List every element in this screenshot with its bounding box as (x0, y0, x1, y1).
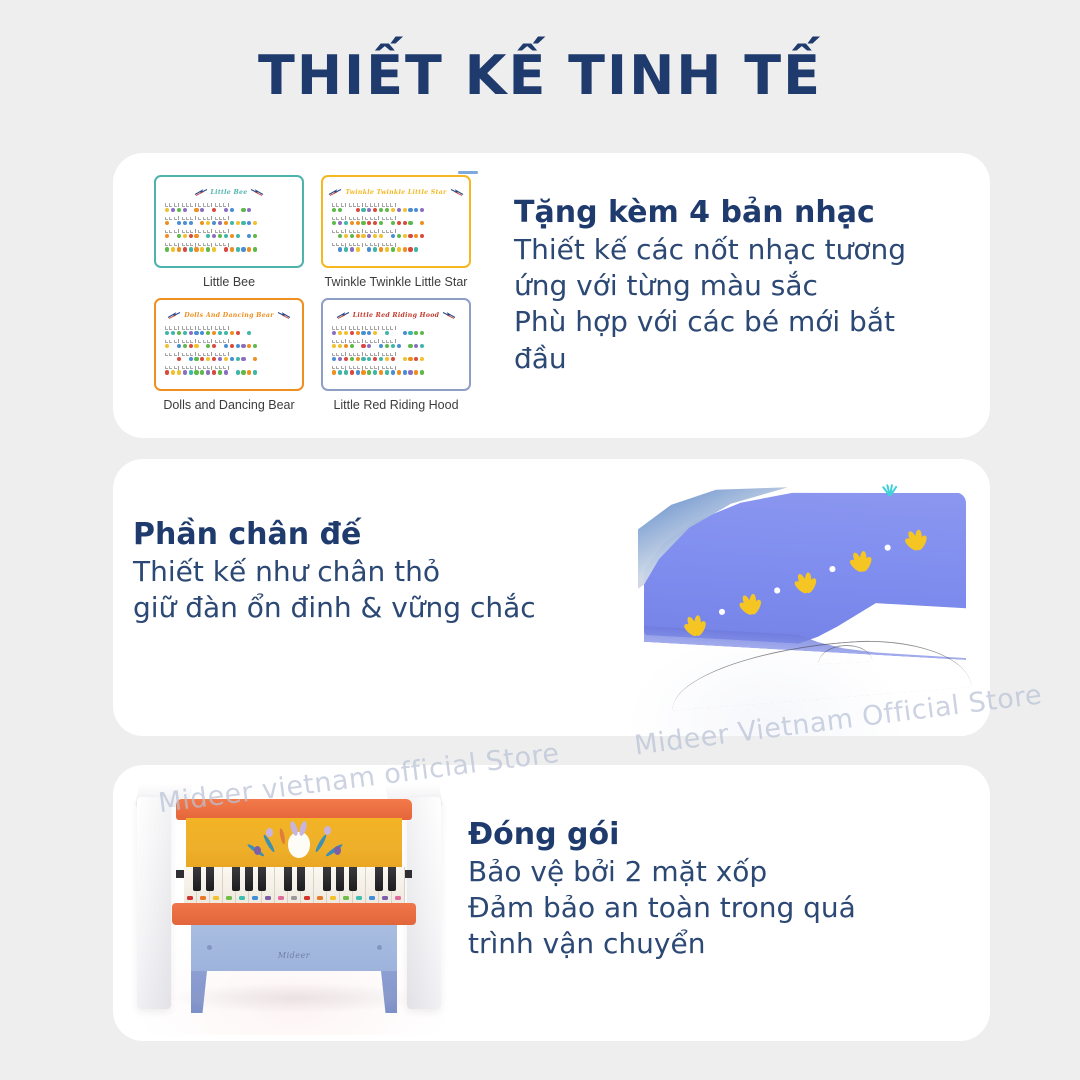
note-tick-row (332, 339, 463, 344)
note-gap (403, 344, 407, 348)
note-tick-row (332, 203, 463, 208)
note-dot (230, 331, 234, 335)
note-tick (336, 203, 339, 207)
note-tick (386, 230, 389, 234)
note-gap (385, 221, 389, 225)
note-tick (386, 353, 389, 357)
note-tick (219, 217, 222, 221)
note-dot (356, 370, 360, 374)
note-tick (219, 366, 222, 370)
note-dot (361, 221, 365, 225)
note-dot (361, 344, 365, 348)
note-tick (353, 340, 356, 344)
note-tick (186, 340, 189, 344)
note-dot (218, 331, 222, 335)
key-color-dot (369, 896, 375, 900)
note-tick (215, 366, 218, 370)
note-tick-row (165, 365, 296, 370)
note-dot (338, 370, 342, 374)
note-tick (169, 326, 172, 330)
song-sheet-item[interactable]: Twinkle Twinkle Little Star Twinkle Twin… (321, 175, 471, 289)
note-tick (374, 340, 377, 344)
note-dot (253, 247, 257, 251)
note-dot (420, 208, 424, 212)
note-dot (332, 370, 336, 374)
note-tick (365, 366, 368, 370)
note-tick (341, 203, 344, 207)
song-sheet-label: Little Red Riding Hood (321, 398, 471, 412)
note-dot-row (332, 331, 463, 336)
note-tick-row (165, 242, 296, 247)
note-tick (219, 230, 222, 234)
note-dot (408, 370, 412, 374)
note-dot (403, 331, 407, 335)
piano-black-key[interactable] (193, 867, 201, 891)
note-bar (362, 229, 364, 233)
note-bar (178, 352, 180, 356)
note-bar (345, 366, 347, 370)
note-dot (338, 208, 342, 212)
note-dot-row (165, 208, 296, 213)
note-tick (174, 340, 177, 344)
note-dot (183, 208, 187, 212)
note-dot (403, 221, 407, 225)
flower-icon (266, 828, 273, 837)
note-tick (219, 326, 222, 330)
note-dot (414, 208, 418, 212)
note-dot-row (332, 234, 463, 239)
note-gap (385, 234, 389, 238)
sheet-title: Little Red Riding Hood (353, 312, 440, 319)
note-tick (353, 366, 356, 370)
note-dot (397, 370, 401, 374)
piano-black-key[interactable] (284, 867, 292, 891)
note-dot (236, 357, 240, 361)
note-dot (212, 370, 216, 374)
note-tick (174, 353, 177, 357)
note-dot (194, 208, 198, 212)
note-dot (379, 344, 383, 348)
teal-burst-icon (878, 482, 902, 496)
note-dot (241, 370, 245, 374)
note-dot-row (332, 344, 463, 349)
note-dot (253, 344, 257, 348)
note-gap (247, 357, 251, 361)
note-dot (200, 331, 204, 335)
note-bar (378, 229, 380, 233)
note-dot (165, 331, 169, 335)
note-dot (253, 234, 257, 238)
note-dot (420, 234, 424, 238)
note-tick (374, 326, 377, 330)
note-tick (223, 203, 226, 207)
note-tick (382, 203, 385, 207)
flower-icon (334, 846, 341, 855)
song-sheet-item[interactable]: Little Bee Little Bee (154, 175, 304, 289)
note-tick (365, 217, 368, 221)
note-tick (198, 326, 201, 330)
rabbit-floral-decal (242, 822, 352, 868)
note-tick (370, 340, 373, 344)
note-bar (395, 366, 397, 370)
note-dot (200, 221, 204, 225)
note-dot (344, 234, 348, 238)
note-dot (391, 344, 395, 348)
note-dot (408, 221, 412, 225)
note-tick (365, 353, 368, 357)
song-sheet-item[interactable]: Little Red Riding Hood Little Red Riding… (321, 298, 471, 412)
note-dot (218, 234, 222, 238)
note-bar (211, 203, 213, 207)
note-tick (203, 366, 206, 370)
note-bar (378, 216, 380, 220)
note-tick (182, 340, 185, 344)
note-bar (178, 326, 180, 330)
note-dot (171, 208, 175, 212)
piano-black-key[interactable] (323, 867, 331, 891)
note-tick (174, 243, 177, 247)
note-dot (165, 234, 169, 238)
note-dot (206, 344, 210, 348)
note-tick (336, 366, 339, 370)
note-tick (357, 243, 360, 247)
sheet-header: Dolls And Dancing Bear (156, 311, 302, 319)
note-dot (391, 221, 395, 225)
note-gap (218, 344, 222, 348)
piano-backboard (186, 818, 402, 870)
note-dot (224, 370, 228, 374)
card-text-block: Đóng gói Bảo vệ bởi 2 mặt xốp Đảm bảo an… (468, 817, 938, 963)
note-dot (247, 370, 251, 374)
card-text-block: Phần chân đế Thiết kế như chân thỏ giữ đ… (133, 517, 633, 626)
note-bar (395, 216, 397, 220)
note-dot (177, 370, 181, 374)
note-dot (344, 221, 348, 225)
note-tick (353, 243, 356, 247)
note-tick-row (165, 216, 296, 221)
note-bar (378, 366, 380, 370)
note-dot-row (332, 208, 463, 213)
note-bar (345, 326, 347, 330)
note-gap (420, 247, 424, 251)
song-sheet-label: Dolls and Dancing Bear (154, 398, 304, 412)
note-dot (350, 331, 354, 335)
note-tick (190, 326, 193, 330)
note-dot (177, 331, 181, 335)
note-dot (344, 357, 348, 361)
note-tick (382, 366, 385, 370)
note-dot (332, 221, 336, 225)
note-dot (414, 357, 418, 361)
note-dot (165, 344, 169, 348)
note-gap (194, 221, 198, 225)
note-gap (183, 357, 187, 361)
note-tick (374, 230, 377, 234)
note-dot (367, 208, 371, 212)
note-gap (379, 331, 383, 335)
note-dot (189, 221, 193, 225)
note-dot (385, 357, 389, 361)
note-dot (356, 221, 360, 225)
white-dot (884, 544, 890, 550)
song-sheet-item[interactable]: Dolls And Dancing Bear Dolls and Dancing… (154, 298, 304, 412)
note-bar (211, 216, 213, 220)
note-tick-row (332, 326, 463, 331)
card-rabbit-foot-stand: Phần chân đế Thiết kế như chân thỏ giữ đ… (113, 459, 990, 736)
note-dot (206, 247, 210, 251)
note-dot (224, 357, 228, 361)
note-dot-row (332, 370, 463, 375)
note-dot (230, 234, 234, 238)
note-tick (198, 203, 201, 207)
note-dot (247, 234, 251, 238)
note-bar (362, 339, 364, 343)
note-tick (374, 203, 377, 207)
note-tick (374, 366, 377, 370)
key-color-dot (278, 896, 284, 900)
note-tick (353, 353, 356, 357)
note-dot (212, 331, 216, 335)
note-tick (365, 326, 368, 330)
note-bar (345, 352, 347, 356)
note-gap (230, 370, 234, 374)
note-bar (362, 352, 364, 356)
note-dot (247, 208, 251, 212)
note-gap (189, 208, 193, 212)
key-color-dot (382, 896, 388, 900)
rabbit-ear-left (289, 820, 299, 836)
note-tick (165, 353, 168, 357)
note-dot (420, 357, 424, 361)
piano-black-key[interactable] (349, 867, 357, 891)
note-tick (165, 203, 168, 207)
piano-black-key[interactable] (245, 867, 253, 891)
note-gap (344, 208, 348, 212)
note-dot (397, 247, 401, 251)
note-bar (195, 229, 197, 233)
note-tick (374, 353, 377, 357)
note-dot (236, 221, 240, 225)
note-tick (182, 243, 185, 247)
note-bar (378, 326, 380, 330)
song-sheet-thumbnail: Little Bee (154, 175, 304, 268)
note-tick (215, 230, 218, 234)
note-bar (195, 366, 197, 370)
note-tick (223, 366, 226, 370)
piano-keys (184, 867, 404, 905)
note-dot (403, 234, 407, 238)
note-tick (186, 326, 189, 330)
key-color-dot (356, 896, 362, 900)
note-tick-row (165, 326, 296, 331)
note-tick (207, 230, 210, 234)
note-dot (212, 344, 216, 348)
piano-black-key[interactable] (232, 867, 240, 891)
key-color-dot (265, 896, 271, 900)
card-heading: Phần chân đế (133, 517, 633, 554)
note-dot (403, 208, 407, 212)
note-gap (200, 234, 204, 238)
note-tick (386, 217, 389, 221)
note-bar (178, 366, 180, 370)
note-dot (224, 247, 228, 251)
note-gap (171, 221, 175, 225)
note-dot (373, 234, 377, 238)
piano-black-key[interactable] (336, 867, 344, 891)
note-gap (350, 208, 354, 212)
piano-black-key[interactable] (206, 867, 214, 891)
note-tick (370, 243, 373, 247)
note-tick (165, 217, 168, 221)
note-bar (378, 203, 380, 207)
note-gap (165, 357, 169, 361)
note-tick (174, 203, 177, 207)
note-dot (206, 331, 210, 335)
note-tick (390, 366, 393, 370)
leaf-motif (840, 541, 878, 576)
note-tick (382, 353, 385, 357)
note-tick-row (165, 339, 296, 344)
note-dot (338, 344, 342, 348)
note-dot (189, 370, 193, 374)
piano-black-key[interactable] (258, 867, 266, 891)
note-tick (215, 243, 218, 247)
note-dot (241, 357, 245, 361)
note-dot (397, 344, 401, 348)
note-dot (420, 370, 424, 374)
note-bar (211, 366, 213, 370)
note-dot (212, 221, 216, 225)
note-gap (236, 208, 240, 212)
note-dot (361, 331, 365, 335)
note-tick (182, 203, 185, 207)
note-tick (169, 353, 172, 357)
note-tick (341, 243, 344, 247)
note-dot-row (332, 221, 463, 226)
note-dot (344, 247, 348, 251)
song-sheet-gallery: Little Bee Little Bee (146, 165, 476, 427)
note-dot (414, 234, 418, 238)
card-body: Thiết kế như chân thỏ giữ đàn ổn đinh & … (133, 554, 633, 627)
note-tick (336, 353, 339, 357)
note-dot (194, 234, 198, 238)
note-dot (350, 357, 354, 361)
note-dot (373, 357, 377, 361)
note-bar (362, 243, 364, 247)
note-dot (183, 221, 187, 225)
note-dot (408, 247, 412, 251)
note-dot (189, 234, 193, 238)
note-bar (228, 339, 230, 343)
white-dot (719, 609, 725, 615)
piano-black-key[interactable] (297, 867, 305, 891)
note-dot-row (332, 357, 463, 362)
sheet-title: Dolls And Dancing Bear (184, 312, 274, 319)
sheet-header: Little Red Riding Hood (323, 311, 469, 319)
note-gap (373, 344, 377, 348)
note-dot-row (165, 344, 296, 349)
note-tick (349, 217, 352, 221)
note-dot (361, 357, 365, 361)
note-dot (344, 344, 348, 348)
piano-black-key[interactable] (375, 867, 383, 891)
note-gap (218, 247, 222, 251)
piano-base: Mideer (191, 925, 397, 971)
note-tick (370, 366, 373, 370)
white-dot (774, 587, 780, 593)
note-dot (241, 344, 245, 348)
note-dot (218, 370, 222, 374)
note-bar (395, 339, 397, 343)
page-root: THIẾT KẾ TINH TẾ Little Bee (0, 0, 1080, 1080)
note-bar (211, 339, 213, 343)
piano-black-key[interactable] (388, 867, 396, 891)
note-bar (228, 243, 230, 247)
note-dot (350, 221, 354, 225)
white-dot (829, 566, 835, 572)
note-tick (365, 203, 368, 207)
note-dot (224, 208, 228, 212)
note-dot (212, 357, 216, 361)
note-dot (367, 221, 371, 225)
note-dot (338, 234, 342, 238)
note-dot (397, 234, 401, 238)
note-dot (247, 331, 251, 335)
note-dot (247, 221, 251, 225)
card-body-line: đầu (514, 341, 974, 377)
note-tick (190, 217, 193, 221)
note-dot (177, 208, 181, 212)
note-dot (338, 331, 342, 335)
note-tick (190, 353, 193, 357)
note-tick (203, 243, 206, 247)
note-bar (211, 326, 213, 330)
note-tick (357, 353, 360, 357)
note-dot-row (165, 331, 296, 336)
note-tick (390, 217, 393, 221)
note-gap (414, 221, 418, 225)
note-tick (207, 326, 210, 330)
note-dot (200, 247, 204, 251)
note-tick (341, 353, 344, 357)
note-bar (228, 229, 230, 233)
rabbit-icon (288, 832, 310, 858)
note-dot (236, 344, 240, 348)
note-tick (207, 353, 210, 357)
note-bar (362, 326, 364, 330)
note-tick (207, 366, 210, 370)
note-tick (336, 230, 339, 234)
note-dot (408, 208, 412, 212)
song-sheet-thumbnail: Twinkle Twinkle Little Star (321, 175, 471, 268)
note-dot (194, 344, 198, 348)
note-dot (212, 234, 216, 238)
note-dot (338, 221, 342, 225)
note-tick (386, 366, 389, 370)
note-dot (332, 208, 336, 212)
note-dot (206, 234, 210, 238)
card-body: Bảo vệ bởi 2 mặt xốp Đảm bảo an toàn tro… (468, 854, 938, 963)
wing-ornament-right-icon (442, 311, 456, 319)
note-bar (395, 229, 397, 233)
note-dot (420, 344, 424, 348)
key-color-dot (291, 896, 297, 900)
note-dot (200, 208, 204, 212)
note-dot (224, 221, 228, 225)
note-tick (341, 340, 344, 344)
note-dot (165, 208, 169, 212)
note-dot (373, 208, 377, 212)
